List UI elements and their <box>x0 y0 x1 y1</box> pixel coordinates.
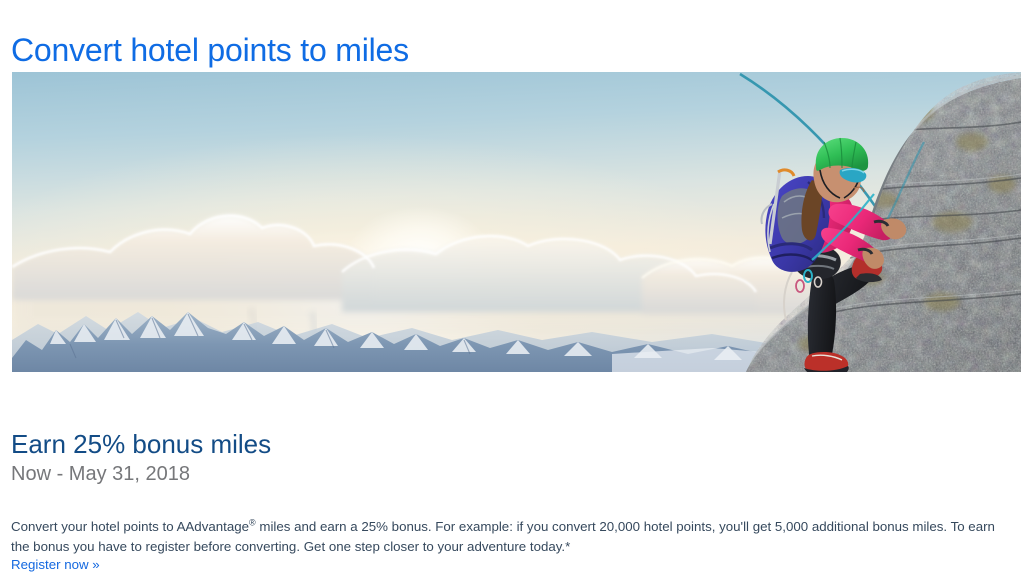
page-title: Convert hotel points to miles <box>11 30 409 70</box>
register-now-link[interactable]: Register now » <box>11 556 100 574</box>
promo-date-range: Now - May 31, 2018 <box>11 461 190 487</box>
promotion-page: Convert hotel points to miles <box>0 0 1021 585</box>
body-text-part1: Convert your hotel points to AAdvantage <box>11 519 249 534</box>
registered-mark: ® <box>249 518 256 528</box>
rock-climber-hero-image <box>12 72 1021 372</box>
promo-heading: Earn 25% bonus miles <box>11 427 271 461</box>
promo-body-text: Convert your hotel points to AAdvantage®… <box>11 517 1011 557</box>
hero-illustration <box>12 72 1021 372</box>
